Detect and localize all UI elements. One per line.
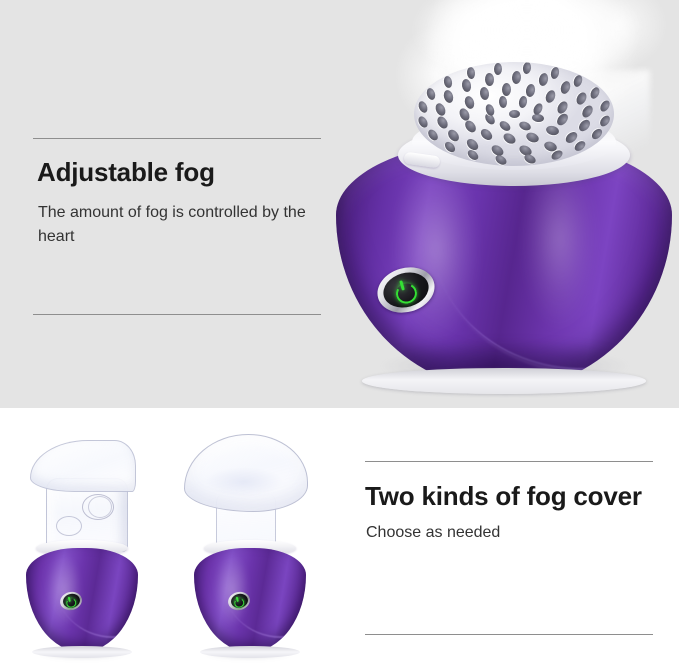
power-icon xyxy=(65,596,76,607)
facial-steamer-main xyxy=(320,40,679,400)
product-variant-wide-cover xyxy=(178,432,314,660)
vent-hole xyxy=(426,128,440,142)
vent-hole xyxy=(502,83,511,96)
steamer-vent-lid xyxy=(398,62,630,190)
vent-hole xyxy=(417,100,429,114)
vent-hole xyxy=(443,140,457,154)
vent-hole xyxy=(598,113,612,127)
divider-top-upper xyxy=(33,138,321,139)
vent-hole xyxy=(498,119,512,133)
steamer-foot-rim xyxy=(362,368,646,394)
product-variant-narrow-cover xyxy=(18,432,146,660)
section-adjustable-fog: Adjustable fog The amount of fog is cont… xyxy=(0,0,679,408)
vent-hole xyxy=(559,80,572,95)
wide-face-cover xyxy=(184,432,306,548)
vent-hole xyxy=(544,89,557,104)
vent-hole xyxy=(479,127,495,142)
vent-hole xyxy=(494,63,502,75)
vent-hole xyxy=(589,127,603,141)
vent-hole xyxy=(572,74,584,88)
vent-hole xyxy=(598,99,611,113)
vent-hole xyxy=(460,79,471,93)
lid-perforated-top xyxy=(414,62,614,166)
vent-hole xyxy=(589,85,601,99)
vent-hole xyxy=(545,124,560,136)
variant-foot-rim xyxy=(32,646,132,658)
vent-hole xyxy=(574,91,588,107)
vent-hole xyxy=(494,153,508,166)
vent-hole xyxy=(532,114,545,123)
vent-hole xyxy=(522,62,531,75)
cover-emboss-ring-2 xyxy=(88,496,112,518)
vent-hole xyxy=(549,66,560,80)
narrow-cover-spout xyxy=(30,440,136,492)
vent-hole xyxy=(525,83,536,97)
vent-hole xyxy=(509,110,520,118)
variant-foot-rim xyxy=(200,646,300,658)
section-title-adjustable-fog: Adjustable fog xyxy=(37,157,215,188)
section-title-fog-cover: Two kinds of fog cover xyxy=(365,481,642,512)
vent-hole xyxy=(426,87,437,101)
narrow-nose-cover xyxy=(32,436,140,544)
cover-emboss-ring-3 xyxy=(56,516,82,536)
vent-holes-group xyxy=(414,62,614,166)
vent-hole xyxy=(518,120,532,132)
vent-hole xyxy=(443,89,455,104)
vent-hole xyxy=(518,95,528,108)
divider-top-lower xyxy=(33,314,321,315)
vent-hole xyxy=(417,115,430,129)
vent-hole xyxy=(434,102,448,118)
power-icon xyxy=(233,596,244,607)
vent-hole xyxy=(435,115,450,131)
divider-bottom-lower xyxy=(365,634,653,635)
divider-bottom-upper xyxy=(365,461,653,462)
vent-hole xyxy=(467,67,476,80)
vent-hole xyxy=(479,87,490,101)
wide-cover-lip-shading xyxy=(192,466,296,506)
section-body-adjustable-fog: The amount of fog is controlled by the h… xyxy=(38,201,306,249)
vent-hole xyxy=(577,117,592,133)
vent-hole xyxy=(522,153,536,166)
section-body-fog-cover: Choose as needed xyxy=(366,521,646,545)
vent-hole xyxy=(443,75,453,88)
vent-hole xyxy=(485,72,495,85)
vent-hole xyxy=(531,101,544,115)
vent-hole xyxy=(580,104,595,120)
vent-hole xyxy=(573,139,587,153)
vent-hole xyxy=(511,70,521,84)
vent-hole xyxy=(525,130,541,143)
vent-hole xyxy=(555,111,570,127)
vent-hole xyxy=(499,96,508,109)
vent-hole xyxy=(537,73,549,88)
vent-hole xyxy=(501,132,517,147)
product-feature-image: Adjustable fog The amount of fog is cont… xyxy=(0,0,679,670)
vent-hole xyxy=(466,148,480,162)
